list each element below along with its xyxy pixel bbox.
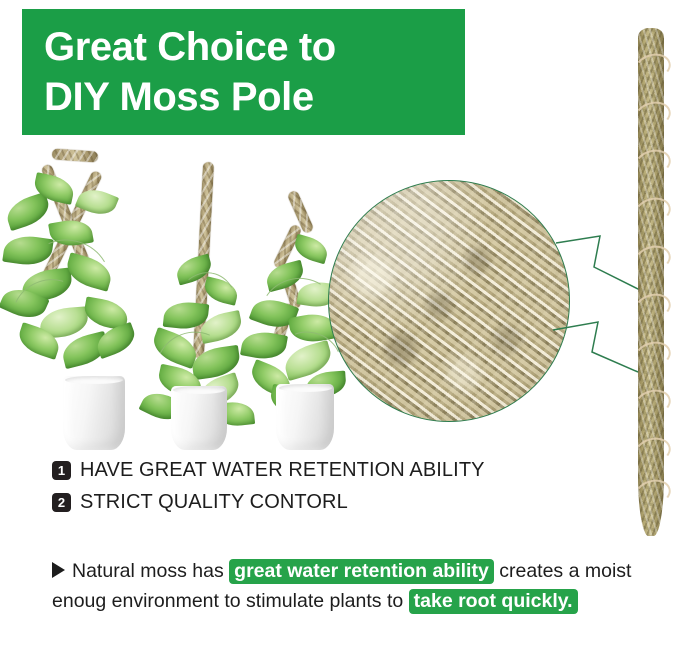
feature-item: 2 STRICT QUALITY CONTORL: [52, 488, 485, 517]
plant-left: [4, 150, 154, 450]
headline-line-2: DIY Moss Pole: [44, 72, 465, 122]
headline-line-1: Great Choice to: [44, 22, 465, 72]
feature-number-badge: 1: [52, 461, 71, 480]
plant-pot: [276, 384, 334, 450]
moss-pole-full-length: [638, 28, 664, 536]
description-highlight-1: great water retention ability: [229, 559, 494, 584]
feature-number-badge: 2: [52, 493, 71, 512]
feature-label: HAVE GREAT WATER RETENTION ABILITY: [80, 459, 485, 482]
feature-item: 1 HAVE GREAT WATER RETENTION ABILITY: [52, 456, 485, 485]
feature-list: 1 HAVE GREAT WATER RETENTION ABILITY 2 S…: [52, 456, 485, 520]
headline-banner: Great Choice to DIY Moss Pole: [22, 9, 465, 135]
plant-pot: [63, 376, 125, 450]
leaf: [93, 322, 139, 359]
feature-label: STRICT QUALITY CONTORL: [80, 491, 348, 514]
moss-closeup-circle: [328, 180, 570, 422]
description-highlight-2: take root quickly.: [409, 589, 578, 614]
triangle-right-icon: [52, 562, 65, 578]
plant-pot: [171, 386, 227, 450]
description-part-1: Natural moss has: [72, 560, 229, 582]
description-paragraph: Natural moss has great water retention a…: [52, 556, 672, 616]
moss-pole-arch-top: [52, 148, 99, 162]
